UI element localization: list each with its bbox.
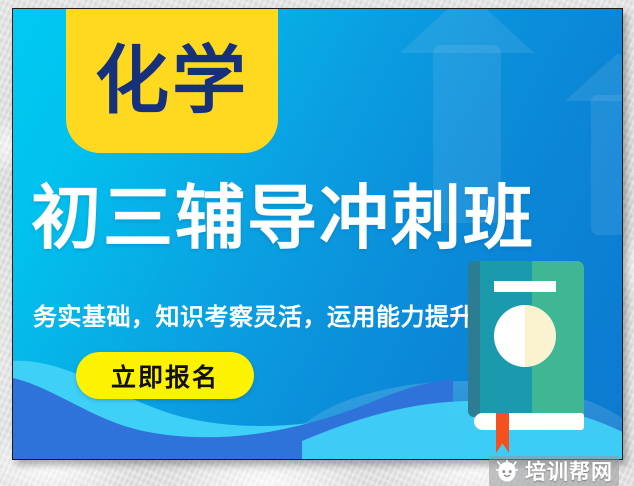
book-pages [474,413,584,430]
enroll-now-label: 立即报名 [111,358,219,394]
book-circle-emblem [494,305,556,367]
enroll-now-button[interactable]: 立即报名 [76,352,254,399]
poster-subtitle: 务实基础，知识考察灵活，运用能力提升 [33,297,474,332]
book-title-band [494,281,556,292]
sun-face-icon [495,459,519,483]
book-illustration [468,261,588,435]
poster-headline: 初三辅导冲刺班 [31,181,601,257]
watermark: 培训帮网 [489,456,619,486]
subject-badge: 化学 [66,8,278,153]
watermark-text: 培训帮网 [525,456,613,486]
subject-badge-label: 化学 [95,30,249,118]
promo-poster: 化学 初三辅导冲刺班 务实基础，知识考察灵活，运用能力提升 立即报名 [12,8,623,460]
